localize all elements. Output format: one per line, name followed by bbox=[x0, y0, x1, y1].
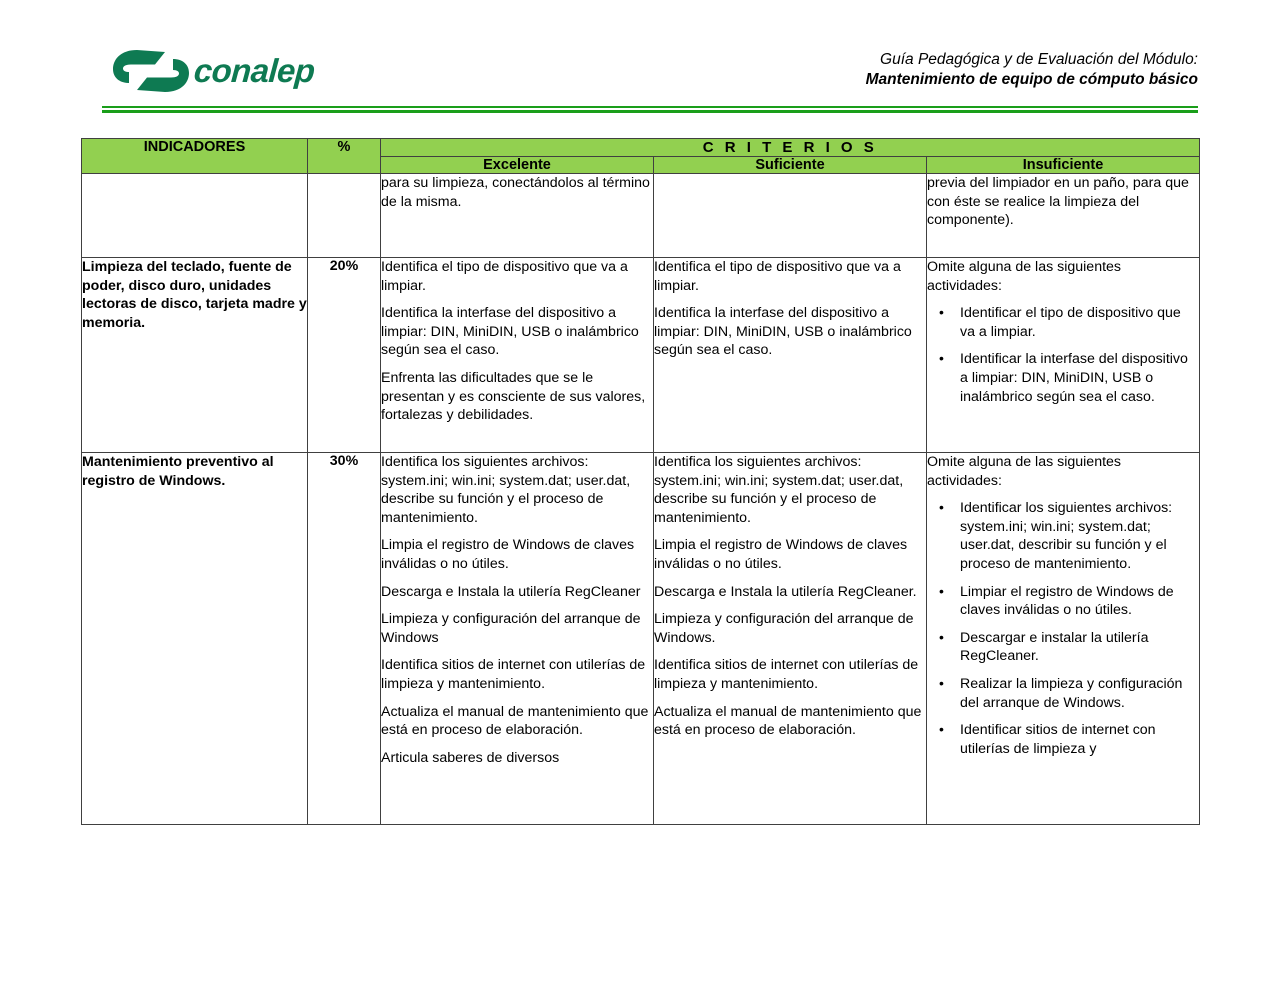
cell-percent: 30% bbox=[308, 453, 381, 825]
criterion-paragraph: previa del limpiador en un paño, para qu… bbox=[927, 174, 1199, 230]
cell-excelente: para su limpieza, conectándolos al térmi… bbox=[381, 174, 654, 258]
criterion-paragraph: Identifica sitios de internet con utiler… bbox=[381, 656, 653, 693]
header-divider bbox=[102, 106, 1198, 113]
header-title-line2: Mantenimiento de equipo de cómputo básic… bbox=[638, 70, 1198, 90]
table-row: para su limpieza, conectándolos al térmi… bbox=[82, 174, 1200, 258]
cell-indicador: Limpieza del teclado, fuente de poder, d… bbox=[82, 258, 308, 453]
cell-suficiente: Identifica el tipo de dispositivo que va… bbox=[654, 258, 927, 453]
criterion-paragraph: Identifica el tipo de dispositivo que va… bbox=[654, 258, 926, 295]
rubric-table-body: para su limpieza, conectándolos al térmi… bbox=[82, 174, 1200, 825]
list-item: Limpiar el registro de Windows de claves… bbox=[953, 583, 1199, 620]
header-insuficiente: Insuficiente bbox=[927, 157, 1200, 174]
cell-suficiente bbox=[654, 174, 927, 258]
header-excelente: Excelente bbox=[381, 157, 654, 174]
criterion-paragraph: Limpia el registro de Windows de claves … bbox=[381, 536, 653, 573]
criterion-paragraph: Enfrenta las dificultades que se le pres… bbox=[381, 369, 653, 425]
cell-insuficiente: Omite alguna de las siguientes actividad… bbox=[927, 453, 1200, 825]
header-divider-line-top bbox=[102, 106, 1198, 108]
criterion-paragraph: Actualiza el manual de mantenimiento que… bbox=[381, 703, 653, 740]
rubric-table-wrapper: INDICADORES % C R I T E R I O S Excelent… bbox=[81, 138, 1199, 825]
list-item: Identificar el tipo de dispositivo que v… bbox=[953, 304, 1199, 341]
header-percent: % bbox=[308, 139, 381, 174]
cell-percent bbox=[308, 174, 381, 258]
list-item: Identificar la interfase del dispositivo… bbox=[953, 350, 1199, 406]
cell-insuficiente: Omite alguna de las siguientes actividad… bbox=[927, 258, 1200, 453]
table-row: Limpieza del teclado, fuente de poder, d… bbox=[82, 258, 1200, 453]
insuficiente-intro: Omite alguna de las siguientes actividad… bbox=[927, 258, 1199, 295]
criterion-paragraph: Descarga e Instala la utilería RegCleane… bbox=[381, 583, 653, 602]
insuficiente-intro: Omite alguna de las siguientes actividad… bbox=[927, 453, 1199, 490]
header-indicadores: INDICADORES bbox=[82, 139, 308, 174]
cell-indicador bbox=[82, 174, 308, 258]
criterion-paragraph: Actualiza el manual de mantenimiento que… bbox=[654, 703, 926, 740]
header-title-line1: Guía Pedagógica y de Evaluación del Módu… bbox=[638, 50, 1198, 70]
cell-indicador: Mantenimiento preventivo al registro de … bbox=[82, 453, 308, 825]
table-header-row-1: INDICADORES % C R I T E R I O S bbox=[82, 139, 1200, 157]
conalep-wordmark: conalep bbox=[193, 52, 316, 90]
rubric-table: INDICADORES % C R I T E R I O S Excelent… bbox=[81, 138, 1200, 825]
criterion-paragraph: Identifica los siguientes archivos: syst… bbox=[654, 453, 926, 527]
list-item: Identificar los siguientes archivos: sys… bbox=[953, 499, 1199, 573]
list-item: Realizar la limpieza y configuración del… bbox=[953, 675, 1199, 712]
criterion-paragraph: para su limpieza, conectándolos al térmi… bbox=[381, 174, 653, 211]
list-item: Descargar e instalar la utilería RegClea… bbox=[953, 629, 1199, 666]
criterion-paragraph: Descarga e Instala la utilería RegCleane… bbox=[654, 583, 926, 602]
cell-percent: 20% bbox=[308, 258, 381, 453]
criterion-paragraph: Limpia el registro de Windows de claves … bbox=[654, 536, 926, 573]
criterion-paragraph: Identifica sitios de internet con utiler… bbox=[654, 656, 926, 693]
criterion-paragraph: Identifica el tipo de dispositivo que va… bbox=[381, 258, 653, 295]
criterion-paragraph: Limpieza y configuración del arranque de… bbox=[654, 610, 926, 647]
cell-excelente: Identifica los siguientes archivos: syst… bbox=[381, 453, 654, 825]
criterion-paragraph: Identifica los siguientes archivos: syst… bbox=[381, 453, 653, 527]
insuficiente-bullet-list: Identificar los siguientes archivos: sys… bbox=[927, 499, 1199, 758]
document-page: conalep Guía Pedagógica y de Evaluación … bbox=[0, 0, 1280, 990]
conalep-logo: conalep bbox=[112, 48, 315, 94]
header-suficiente: Suficiente bbox=[654, 157, 927, 174]
cell-insuficiente: previa del limpiador en un paño, para qu… bbox=[927, 174, 1200, 258]
criterion-paragraph: Identifica la interfase del dispositivo … bbox=[381, 304, 653, 360]
header-divider-line-bottom bbox=[102, 110, 1198, 113]
cell-excelente: Identifica el tipo de dispositivo que va… bbox=[381, 258, 654, 453]
header-title: Guía Pedagógica y de Evaluación del Módu… bbox=[638, 50, 1198, 90]
page-footer: CALIDAD PARA LA COMPETITIVIDAD Modelo Ac… bbox=[0, 866, 1280, 990]
cell-suficiente: Identifica los siguientes archivos: syst… bbox=[654, 453, 927, 825]
criterion-paragraph: Identifica la interfase del dispositivo … bbox=[654, 304, 926, 360]
table-row: Mantenimiento preventivo al registro de … bbox=[82, 453, 1200, 825]
insuficiente-bullet-list: Identificar el tipo de dispositivo que v… bbox=[927, 304, 1199, 406]
conalep-interlock-icon bbox=[112, 48, 190, 94]
header-criterios: C R I T E R I O S bbox=[381, 139, 1200, 157]
criterion-paragraph: Articula saberes de diversos bbox=[381, 749, 653, 768]
criterion-paragraph: Limpieza y configuración del arranque de… bbox=[381, 610, 653, 647]
list-item: Identificar sitios de internet con utile… bbox=[953, 721, 1199, 758]
page-header: conalep Guía Pedagógica y de Evaluación … bbox=[0, 0, 1280, 112]
